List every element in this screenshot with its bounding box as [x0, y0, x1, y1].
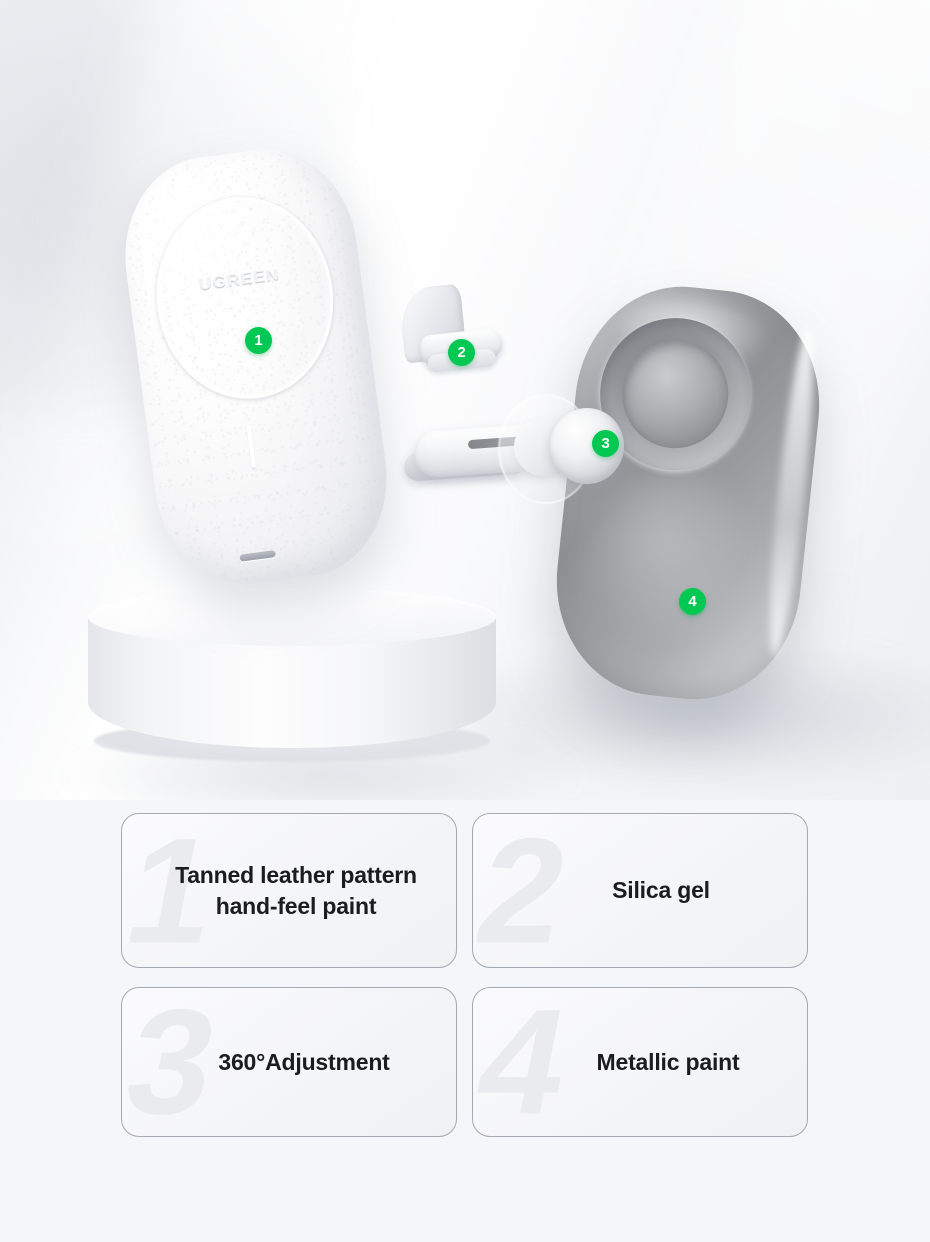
callout-badge-1[interactable]: 1 — [245, 327, 272, 354]
feature-cards-grid: 1 Tanned leather pattern hand-feel paint… — [121, 813, 808, 1138]
feature-label-2: Silica gel — [473, 875, 807, 905]
pedestal-cylinder — [88, 588, 496, 768]
callout-badge-4[interactable]: 4 — [679, 588, 706, 615]
feature-label-3: 360°Adjustment — [122, 1047, 456, 1077]
feature-label-1-line2: hand-feel paint — [216, 893, 377, 919]
product-hero-image: UGREEN 1 2 3 4 — [0, 0, 930, 800]
feature-card-3[interactable]: 3 360°Adjustment — [121, 987, 457, 1137]
feature-card-4[interactable]: 4 Metallic paint — [472, 987, 808, 1137]
wireless-charging-pad: UGREEN — [113, 139, 399, 596]
feature-card-1[interactable]: 1 Tanned leather pattern hand-feel paint — [121, 813, 457, 968]
callout-badge-2[interactable]: 2 — [448, 339, 475, 366]
feature-label-1-line1: Tanned leather pattern — [175, 862, 417, 888]
feature-label-1: Tanned leather pattern hand-feel paint — [122, 860, 456, 921]
feature-card-2[interactable]: 2 Silica gel — [472, 813, 808, 968]
ball-joint-assembly — [492, 392, 662, 522]
pedestal-top-face — [88, 588, 496, 646]
callout-badge-3[interactable]: 3 — [592, 430, 619, 457]
feature-label-4: Metallic paint — [473, 1047, 807, 1077]
